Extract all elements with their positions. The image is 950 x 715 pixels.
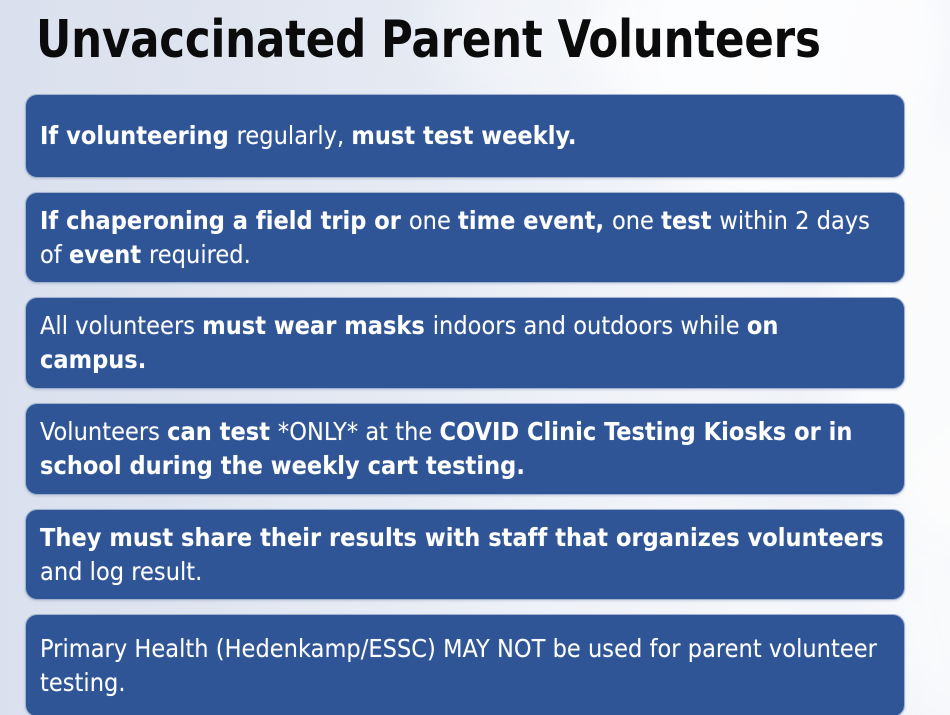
- bullet-text-3: All volunteers must wear masks indoors a…: [40, 309, 890, 377]
- bullet-box-6: Primary Health (Hedenkamp/ESSC) MAY NOT …: [25, 614, 905, 715]
- bullet-text-5: They must share their results with staff…: [40, 521, 890, 589]
- bullet-text-6: Primary Health (Hedenkamp/ESSC) MAY NOT …: [40, 632, 890, 700]
- bullet-box-2: If chaperoning a field trip or one time …: [25, 192, 905, 283]
- bullet-box-5: They must share their results with staff…: [25, 509, 905, 600]
- bullet-text-1: If volunteering regularly, must test wee…: [40, 119, 890, 153]
- slide-canvas: Unvaccinated Parent Volunteers If volunt…: [0, 0, 950, 715]
- page-title: Unvaccinated Parent Volunteers: [36, 4, 854, 76]
- bullet-text-4: Volunteers can test *ONLY* at the COVID …: [40, 415, 890, 483]
- bullet-box-1: If volunteering regularly, must test wee…: [25, 94, 905, 178]
- bullet-box-3: All volunteers must wear masks indoors a…: [25, 297, 905, 389]
- bullet-list: If volunteering regularly, must test wee…: [25, 94, 905, 715]
- bullet-box-4: Volunteers can test *ONLY* at the COVID …: [25, 403, 905, 495]
- bullet-text-2: If chaperoning a field trip or one time …: [40, 204, 890, 272]
